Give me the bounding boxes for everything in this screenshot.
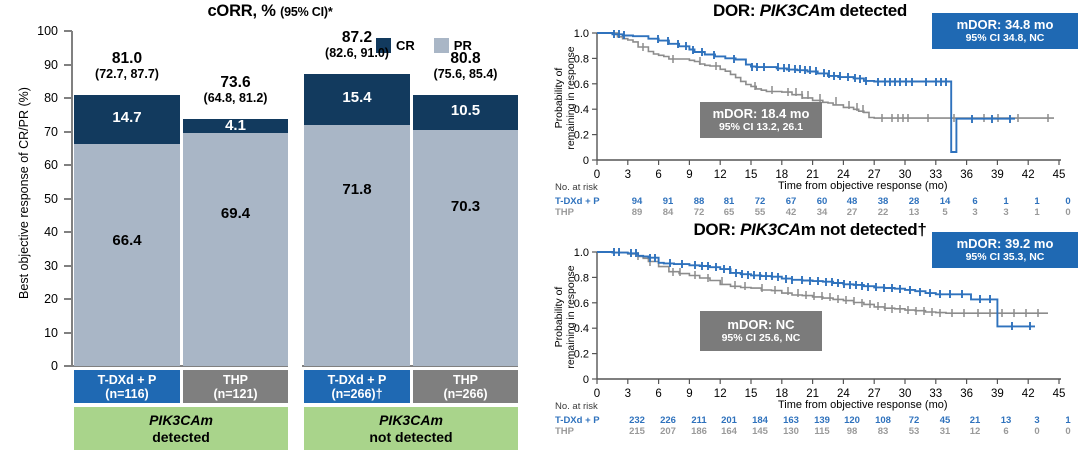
- bar-cr-value: 15.4: [304, 89, 410, 106]
- risk-value: 1: [995, 196, 1017, 207]
- risk-value: 42: [780, 207, 802, 218]
- mdor-annotation-tdxd-not-detected: mDOR: 39.2 mo 95% CI 35.3, NC: [932, 232, 1078, 268]
- svg-text:45: 45: [1053, 388, 1066, 400]
- bar-total-value: 73.6: [161, 75, 310, 91]
- y-tick-100: [64, 30, 72, 32]
- bar-segment-cr: 4.1: [183, 119, 288, 133]
- bar-pr-value: 70.3: [413, 198, 518, 215]
- group-band-detected: PIK3CAm detected: [74, 407, 288, 450]
- arm-label-tdxd-not-detected: T-DXd + P (n=266)†: [304, 370, 410, 403]
- bar-chart-title: cORR, % (95% CI)*: [0, 2, 540, 21]
- risk-row-label-thp: THP: [555, 426, 574, 437]
- group-band-not-detected: PIK3CAm not detected: [304, 407, 518, 450]
- svg-text:0: 0: [594, 388, 600, 400]
- y-tick-80: [64, 97, 72, 99]
- risk-row-label-tdxd: T-DXd + P: [555, 415, 600, 426]
- svg-text:39: 39: [991, 169, 1004, 181]
- svg-text:1.0: 1.0: [574, 28, 589, 40]
- svg-text:42: 42: [1022, 169, 1035, 181]
- svg-text:12: 12: [714, 169, 727, 181]
- bar-total-value: 80.8: [391, 51, 540, 67]
- km-panel-not-detected: DOR: PIK3CAm not detected† Probability o…: [540, 219, 1080, 438]
- svg-text:9: 9: [686, 388, 692, 400]
- bar-segment-cr: 10.5: [413, 95, 518, 130]
- arm-n: (n=116): [105, 387, 148, 401]
- bar-total-value: 81.0: [52, 51, 202, 67]
- risk-value: 1: [1026, 207, 1048, 218]
- arm-n: (n=266)†: [331, 387, 382, 401]
- risk-value: 89: [626, 207, 648, 218]
- svg-text:0.4: 0.4: [574, 323, 589, 335]
- y-label-60: 60: [18, 158, 58, 172]
- risk-value: 226: [657, 415, 679, 426]
- risk-value: 14: [934, 196, 956, 207]
- risk-value: 6: [964, 196, 986, 207]
- arm-label-tdxd-detected: T-DXd + P (n=116): [74, 370, 180, 403]
- bar-thp-detected: 73.6 (64.8, 81.2) 4.1 69.4: [183, 119, 288, 366]
- risk-value: 1: [1026, 196, 1048, 207]
- risk-value: 72: [749, 196, 771, 207]
- risk-value: 34: [811, 207, 833, 218]
- bar-thp-not-detected: 80.8 (75.6, 85.4) 10.5 70.3: [413, 95, 518, 366]
- group-band-gene: PIK3CAm: [149, 412, 213, 429]
- risk-value: 48: [841, 196, 863, 207]
- bar-tdxd-detected: 81.0 (72.7, 87.7) 14.7 66.4: [74, 95, 180, 366]
- risk-value: 0: [1057, 426, 1079, 437]
- risk-value: 201: [718, 415, 740, 426]
- arm-n: (n=266): [443, 387, 487, 401]
- mdor-value: mDOR: 39.2 mo: [957, 236, 1054, 251]
- risk-value: 83: [872, 426, 894, 437]
- risk-value: 88: [688, 196, 710, 207]
- risk-value: 91: [657, 196, 679, 207]
- risk-row-label-tdxd: T-DXd + P: [555, 196, 600, 207]
- risk-value: 184: [749, 415, 771, 426]
- y-label-50: 50: [18, 192, 58, 206]
- svg-text:6: 6: [655, 169, 661, 181]
- svg-text:15: 15: [745, 169, 758, 181]
- svg-text:1.0: 1.0: [574, 247, 589, 259]
- bar-total-thp-not-detected: 80.8 (75.6, 85.4): [391, 51, 540, 81]
- risk-value: 130: [780, 426, 802, 437]
- risk-value: 13: [903, 207, 925, 218]
- mdor-annotation-tdxd-detected: mDOR: 34.8 mo 95% CI 34.8, NC: [932, 13, 1078, 49]
- mdor-ci: 95% CI 34.8, NC: [966, 32, 1045, 45]
- svg-text:6: 6: [655, 388, 661, 400]
- svg-text:0.6: 0.6: [574, 79, 589, 91]
- risk-value: 31: [934, 426, 956, 437]
- svg-text:9: 9: [686, 169, 692, 181]
- risk-value: 98: [841, 426, 863, 437]
- arm-name: THP: [453, 373, 478, 387]
- risk-value: 21: [964, 415, 986, 426]
- risk-value: 65: [718, 207, 740, 218]
- bar-title-main: cORR, %: [207, 2, 275, 20]
- risk-value: 115: [811, 426, 833, 437]
- risk-value: 163: [780, 415, 802, 426]
- mdor-ci: 95% CI 25.6, NC: [722, 332, 801, 345]
- risk-value: 139: [811, 415, 833, 426]
- risk-value: 60: [811, 196, 833, 207]
- arm-name: T-DXd + P: [98, 373, 157, 387]
- figure-root: cORR, % (95% CI)* Best objective respons…: [0, 0, 1080, 438]
- risk-value: 12: [964, 426, 986, 437]
- risk-value: 207: [657, 426, 679, 437]
- y-tick-60: [64, 164, 72, 166]
- y-tick-30: [64, 265, 72, 267]
- risk-table-title-detected: No. at risk: [555, 182, 598, 193]
- risk-value: 215: [626, 426, 648, 437]
- y-tick-40: [64, 231, 72, 233]
- risk-value: 232: [626, 415, 648, 426]
- bar-pr-value: 66.4: [74, 232, 180, 249]
- mdor-value: mDOR: 18.4 mo: [713, 106, 810, 121]
- km-x-axis-label-not-detected: Time from objective response (mo): [778, 399, 948, 411]
- svg-text:36: 36: [960, 169, 973, 181]
- y-tick-50: [64, 198, 72, 200]
- risk-value: 84: [657, 207, 679, 218]
- risk-value: 0: [1026, 426, 1048, 437]
- bar-segment-pr: 71.8: [304, 125, 410, 366]
- risk-value: 145: [749, 426, 771, 437]
- svg-text:36: 36: [960, 388, 973, 400]
- km-x-axis-label-detected: Time from objective response (mo): [778, 180, 948, 192]
- svg-text:0.2: 0.2: [574, 349, 589, 361]
- bar-title-sub: (95% CI)*: [280, 5, 332, 19]
- bar-cr-value: 4.1: [183, 117, 288, 134]
- group-band-status: not detected: [369, 429, 452, 446]
- bar-chart-panel: cORR, % (95% CI)* Best objective respons…: [0, 0, 540, 438]
- arm-name: T-DXd + P: [328, 373, 387, 387]
- bar-pr-value: 71.8: [304, 181, 410, 198]
- risk-value: 1: [1057, 415, 1079, 426]
- bar-segment-cr: 15.4: [304, 74, 410, 125]
- y-label-30: 30: [18, 259, 58, 273]
- risk-value: 72: [688, 207, 710, 218]
- y-label-70: 70: [18, 125, 58, 139]
- risk-value: 164: [718, 426, 740, 437]
- risk-value: 72: [903, 415, 925, 426]
- arm-name: THP: [223, 373, 248, 387]
- risk-value: 53: [903, 426, 925, 437]
- bar-segment-pr: 66.4: [74, 144, 180, 366]
- risk-value: 108: [872, 415, 894, 426]
- svg-text:39: 39: [991, 388, 1004, 400]
- arm-label-thp-not-detected: THP (n=266): [413, 370, 518, 403]
- risk-value: 28: [903, 196, 925, 207]
- risk-table-title-not-detected: No. at risk: [555, 401, 598, 412]
- km-panel-detected: DOR: PIK3CAm detected Probability of rem…: [540, 0, 1080, 219]
- risk-value: 22: [872, 207, 894, 218]
- bar-cr-value: 10.5: [413, 102, 518, 119]
- risk-value: 38: [872, 196, 894, 207]
- risk-value: 81: [718, 196, 740, 207]
- risk-value: 27: [841, 207, 863, 218]
- risk-value: 186: [688, 426, 710, 437]
- svg-text:42: 42: [1022, 388, 1035, 400]
- svg-text:3: 3: [625, 169, 631, 181]
- risk-value: 67: [780, 196, 802, 207]
- bar-total-ci: (64.8, 81.2): [161, 91, 310, 105]
- group-band-status: detected: [152, 429, 210, 446]
- svg-text:0: 0: [583, 374, 589, 386]
- y-label-40: 40: [18, 225, 58, 239]
- risk-value: 0: [1057, 196, 1079, 207]
- svg-text:0: 0: [583, 155, 589, 167]
- y-label-100: 100: [18, 24, 58, 38]
- bar-cr-value: 14.7: [74, 109, 180, 126]
- y-label-80: 80: [18, 91, 58, 105]
- y-tick-70: [64, 131, 72, 133]
- bar-pr-value: 69.4: [183, 205, 288, 222]
- bar-tdxd-not-detected: 87.2 (82.6, 91.0) 15.4 71.8: [304, 74, 410, 366]
- bar-total-thp-detected: 73.6 (64.8, 81.2): [161, 75, 310, 105]
- bar-total-value: 87.2: [282, 30, 432, 46]
- mdor-annotation-thp-detected: mDOR: 18.4 mo 95% CI 13.2, 26.1: [700, 102, 822, 138]
- y-tick-10: [64, 332, 72, 334]
- risk-value: 94: [626, 196, 648, 207]
- y-tick-0: [64, 365, 72, 367]
- y-tick-20: [64, 298, 72, 300]
- arm-label-thp-detected: THP (n=121): [183, 370, 288, 403]
- svg-text:3: 3: [625, 388, 631, 400]
- y-label-0: 0: [18, 359, 58, 373]
- risk-value: 5: [934, 207, 956, 218]
- svg-text:12: 12: [714, 388, 727, 400]
- risk-value: 3: [1026, 415, 1048, 426]
- mdor-ci: 95% CI 35.3, NC: [966, 251, 1045, 264]
- svg-text:0.8: 0.8: [574, 272, 589, 284]
- risk-value: 55: [749, 207, 771, 218]
- y-label-20: 20: [18, 292, 58, 306]
- svg-text:0.8: 0.8: [574, 53, 589, 65]
- svg-text:45: 45: [1053, 169, 1066, 181]
- risk-value: 6: [995, 426, 1017, 437]
- group-band-gene: PIK3CAm: [379, 412, 443, 429]
- risk-value: 120: [841, 415, 863, 426]
- y-label-10: 10: [18, 326, 58, 340]
- mdor-ci: 95% CI 13.2, 26.1: [719, 121, 803, 134]
- arm-n: (n=121): [213, 387, 257, 401]
- svg-text:0.6: 0.6: [574, 298, 589, 310]
- risk-value: 0: [1057, 207, 1079, 218]
- mdor-value: mDOR: 34.8 mo: [957, 17, 1054, 32]
- risk-value: 3: [964, 207, 986, 218]
- mdor-value: mDOR: NC: [727, 317, 794, 332]
- risk-row-label-thp: THP: [555, 207, 574, 218]
- svg-text:0.2: 0.2: [574, 130, 589, 142]
- risk-value: 13: [995, 415, 1017, 426]
- bar-segment-pr: 70.3: [413, 130, 518, 366]
- risk-value: 3: [995, 207, 1017, 218]
- risk-value: 211: [688, 415, 710, 426]
- bar-total-ci: (75.6, 85.4): [391, 67, 540, 81]
- bar-segment-pr: 69.4: [183, 133, 288, 366]
- svg-text:0.4: 0.4: [574, 104, 589, 116]
- mdor-annotation-thp-not-detected: mDOR: NC 95% CI 25.6, NC: [700, 311, 822, 351]
- svg-text:15: 15: [745, 388, 758, 400]
- risk-value: 45: [934, 415, 956, 426]
- svg-text:0: 0: [594, 169, 600, 181]
